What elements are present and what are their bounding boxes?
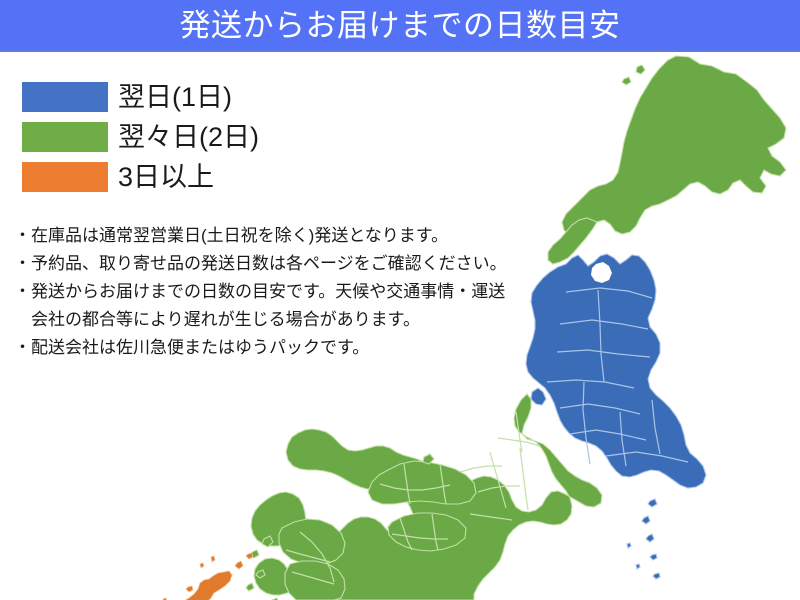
legend-item-three-plus: 3日以上	[22, 158, 322, 196]
map-region-hokkaido	[548, 56, 786, 264]
page-title-bar: 発送からお届けまでの日数目安	[0, 0, 800, 52]
map-region-okinawa	[145, 553, 253, 600]
legend: 翌日(1日) 翌々日(2日) 3日以上	[22, 78, 322, 198]
note-line: ・配送会社は佐川急便またはゆうパックです。	[14, 334, 574, 362]
legend-item-two-day: 翌々日(2日)	[22, 118, 322, 156]
note-line: 会社の都合等により遅れが生じる場合があります。	[14, 306, 574, 334]
legend-swatch-three-plus	[22, 162, 108, 192]
note-line: ・発送からお届けまでの日数の目安です。天候や交通事情・運送	[14, 278, 574, 306]
legend-swatch-next-day	[22, 82, 108, 112]
legend-label-two-day: 翌々日(2日)	[118, 124, 259, 151]
legend-item-next-day: 翌日(1日)	[22, 78, 322, 116]
legend-label-next-day: 翌日(1日)	[118, 84, 232, 111]
note-line: ・予約品、取り寄せ品の発送日数は各ページをご確認ください。	[14, 250, 574, 278]
notes-list: ・在庫品は通常翌営業日(土日祝を除く)発送となります。 ・予約品、取り寄せ品の発…	[14, 222, 574, 362]
page-title: 発送からお届けまでの日数目安	[180, 10, 621, 41]
legend-swatch-two-day	[22, 122, 108, 152]
legend-label-three-plus: 3日以上	[118, 164, 214, 191]
note-line: ・在庫品は通常翌営業日(土日祝を除く)発送となります。	[14, 222, 574, 250]
